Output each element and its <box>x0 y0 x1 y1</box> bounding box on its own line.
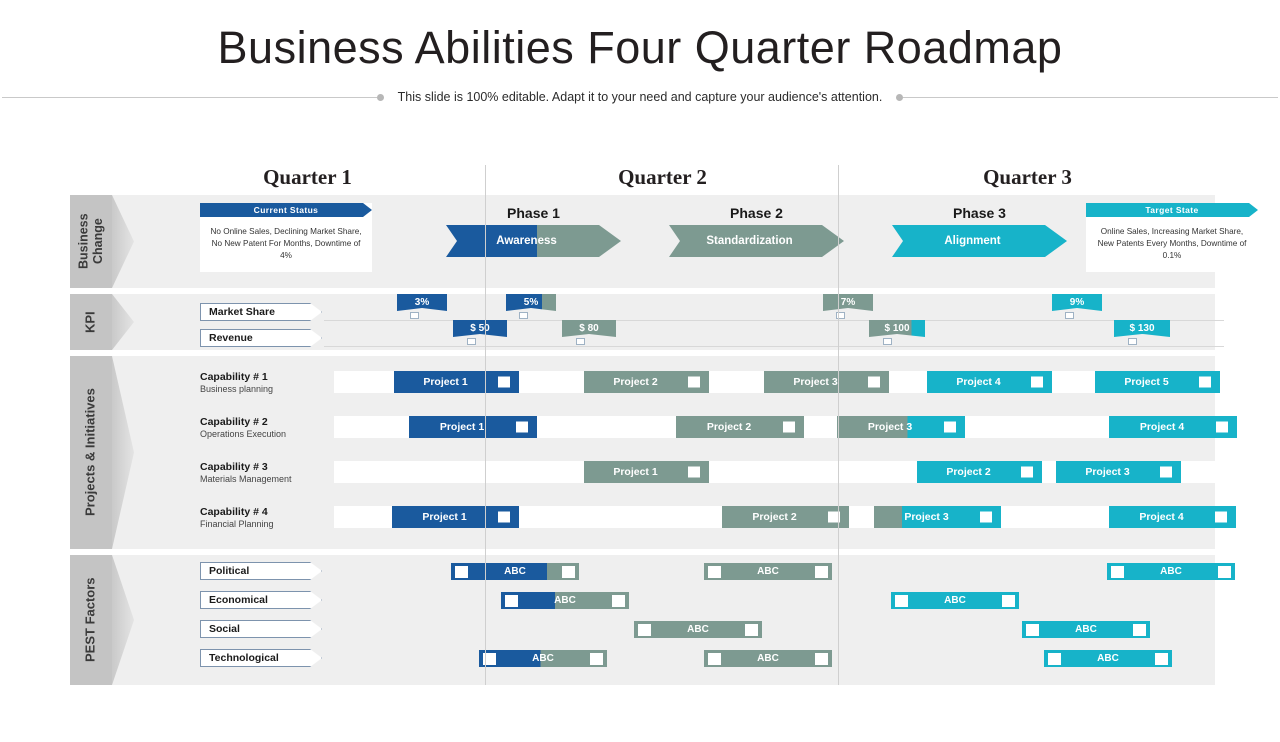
project-bar-4-3[interactable]: Project 3 <box>874 506 1001 528</box>
capability-subtitle-1: Business planning <box>200 384 273 395</box>
phase-title-1: Phase 1 <box>446 205 621 221</box>
pest-bar-marker-right <box>815 566 828 578</box>
phase-arrow-label-2: Standardization <box>669 235 844 247</box>
state-body-target: Online Sales, Increasing Market Share, N… <box>1086 217 1258 272</box>
pest-bar-4-1[interactable]: ABC <box>479 650 607 667</box>
pest-bar-marker-right <box>1155 653 1168 665</box>
capability-title-4: Capability # 4 <box>200 506 274 519</box>
phase-arrow-label-3: Alignment <box>892 235 1067 247</box>
kpi-baseline-2 <box>324 346 1224 347</box>
phase-title-2: Phase 2 <box>669 205 844 221</box>
pest-tag-3[interactable]: Social <box>200 620 322 638</box>
pest-bar-4-2[interactable]: ABC <box>704 650 832 667</box>
project-bar-marker <box>1021 467 1033 478</box>
project-bar-2-4[interactable]: Project 4 <box>1109 416 1237 438</box>
kpi-tag-1[interactable]: Market Share <box>200 303 322 321</box>
band-pest: PEST Factors <box>70 555 130 685</box>
phase-title-3: Phase 3 <box>892 205 1067 221</box>
capability-title-2: Capability # 2 <box>200 416 286 429</box>
project-bar-4-4[interactable]: Project 4 <box>1109 506 1236 528</box>
quarter-divider-2 <box>838 165 839 685</box>
band-label-pest: PEST Factors <box>70 555 112 685</box>
pest-bar-marker-left <box>708 653 721 665</box>
pest-bar-marker-right <box>1218 566 1231 578</box>
project-bar-3-3[interactable]: Project 3 <box>1056 461 1181 483</box>
phase-arrow-1[interactable]: Awareness <box>446 225 621 257</box>
phase-arrow-holder-1: Awareness <box>446 225 621 257</box>
project-bar-marker <box>1216 422 1228 433</box>
kpi-badge-7[interactable]: $ 100 <box>869 320 925 337</box>
kpi-pin-8 <box>1128 338 1137 345</box>
project-bar-marker <box>868 377 880 388</box>
state-box-current: Current StatusNo Online Sales, Declining… <box>200 203 372 272</box>
state-header-target: Target State <box>1086 203 1258 217</box>
kpi-pin-6 <box>576 338 585 345</box>
bullet-dot-right <box>896 94 903 101</box>
pest-tag-label-2: Economical <box>201 594 268 606</box>
project-bar-2-2[interactable]: Project 2 <box>676 416 804 438</box>
project-bar-1-3[interactable]: Project 3 <box>764 371 889 393</box>
quarter-divider-1 <box>485 165 486 685</box>
pest-bar-3-2[interactable]: ABC <box>1022 621 1150 638</box>
pest-bar-label-4-2: ABC <box>757 653 779 664</box>
kpi-badge-5[interactable]: $ 50 <box>453 320 507 337</box>
capability-label-2: Capability # 2Operations Execution <box>200 416 286 440</box>
pest-bar-marker-right <box>1002 595 1015 607</box>
project-bar-marker <box>1199 377 1211 388</box>
pest-tag-label-1: Political <box>201 565 249 577</box>
project-bar-2-3[interactable]: Project 3 <box>837 416 965 438</box>
kpi-pin-1 <box>410 312 419 319</box>
pest-tag-1[interactable]: Political <box>200 562 322 580</box>
pest-bar-marker-right <box>612 595 625 607</box>
pest-bar-3-1[interactable]: ABC <box>634 621 762 638</box>
pest-bar-marker-left <box>1026 624 1039 636</box>
project-bar-4-1[interactable]: Project 1 <box>392 506 519 528</box>
pest-tag-4[interactable]: Technological <box>200 649 322 667</box>
pest-bar-2-1[interactable]: ABC <box>501 592 629 609</box>
pest-bar-label-2-1: ABC <box>554 595 576 606</box>
pest-bar-marker-left <box>505 595 518 607</box>
pest-bar-label-1-1: ABC <box>504 566 526 577</box>
divider-left <box>2 97 377 98</box>
kpi-content: Market ShareRevenue3%5%7%9%$ 50$ 80$ 100… <box>134 294 1215 350</box>
kpi-badge-8[interactable]: $ 130 <box>1114 320 1170 337</box>
phase-2: Phase 2Standardization <box>669 205 844 257</box>
band-arrow-point <box>112 195 134 288</box>
pest-bar-marker-left <box>1111 566 1124 578</box>
capability-subtitle-4: Financial Planning <box>200 519 274 530</box>
project-bar-marker <box>1215 512 1227 523</box>
project-bar-marker <box>944 422 956 433</box>
pest-bar-label-1-3: ABC <box>1160 566 1182 577</box>
pest-bar-marker-left <box>1048 653 1061 665</box>
phase-arrow-2[interactable]: Standardization <box>669 225 844 257</box>
kpi-tag-label-2: Revenue <box>201 332 253 344</box>
roadmap-board: Business Change Current StatusNo Online … <box>70 195 1215 685</box>
pest-bar-label-1-2: ABC <box>757 566 779 577</box>
quarter-header-3: Quarter 3 <box>840 165 1215 190</box>
section-kpi: KPI Market ShareRevenue3%5%7%9%$ 50$ 80$… <box>70 294 1215 350</box>
project-bar-4-2[interactable]: Project 2 <box>722 506 849 528</box>
page-subtitle: This slide is 100% editable. Adapt it to… <box>384 90 897 104</box>
pest-tag-2[interactable]: Economical <box>200 591 322 609</box>
kpi-badge-3[interactable]: 7% <box>823 294 873 311</box>
project-bar-marker <box>783 422 795 433</box>
pest-tag-label-4: Technological <box>201 652 279 664</box>
pest-bar-marker-left <box>708 566 721 578</box>
capability-subtitle-3: Materials Management <box>200 474 292 485</box>
divider-right <box>903 97 1278 98</box>
pest-bar-marker-right <box>562 566 575 578</box>
section-projects-initiatives: Projects & Initiatives Capability # 1Bus… <box>70 356 1215 549</box>
project-bar-1-5[interactable]: Project 5 <box>1095 371 1220 393</box>
project-bar-1-1[interactable]: Project 1 <box>394 371 519 393</box>
quarter-headers: Quarter 1Quarter 2Quarter 3 <box>130 165 1215 195</box>
phase-arrow-holder-3: Alignment <box>892 225 1067 257</box>
state-body-current: No Online Sales, Declining Market Share,… <box>200 217 372 272</box>
kpi-tag-2[interactable]: Revenue <box>200 329 322 347</box>
pest-bar-marker-right <box>745 624 758 636</box>
project-bar-marker <box>498 512 510 523</box>
kpi-pin-5 <box>467 338 476 345</box>
kpi-tag-label-1: Market Share <box>201 306 275 318</box>
band-label-business-change: Business Change <box>70 195 112 288</box>
page-title: Business Abilities Four Quarter Roadmap <box>0 22 1280 74</box>
capability-subtitle-2: Operations Execution <box>200 429 286 440</box>
pest-bar-marker-left <box>638 624 651 636</box>
band-arrow-point <box>112 555 134 685</box>
pest-bar-marker-right <box>1133 624 1146 636</box>
pest-bar-marker-left <box>455 566 468 578</box>
quarter-header-2: Quarter 2 <box>485 165 840 190</box>
band-business-change: Business Change <box>70 195 130 288</box>
capability-label-3: Capability # 3Materials Management <box>200 461 292 485</box>
band-label-projects: Projects & Initiatives <box>70 356 112 549</box>
section-business-change: Business Change Current StatusNo Online … <box>70 195 1215 288</box>
capability-title-1: Capability # 1 <box>200 371 273 384</box>
phase-arrow-label-1: Awareness <box>446 235 621 247</box>
pest-bar-marker-right <box>815 653 828 665</box>
quarter-header-1: Quarter 1 <box>130 165 485 190</box>
project-bar-3-2[interactable]: Project 2 <box>917 461 1042 483</box>
project-bar-2-1[interactable]: Project 1 <box>409 416 537 438</box>
kpi-pin-2 <box>519 312 528 319</box>
pest-bar-marker-left <box>895 595 908 607</box>
project-bar-marker <box>516 422 528 433</box>
state-box-target: Target StateOnline Sales, Increasing Mar… <box>1086 203 1258 272</box>
project-bar-1-2[interactable]: Project 2 <box>584 371 709 393</box>
band-arrow-point <box>112 356 134 549</box>
pest-content: PoliticalABCABCABCEconomicalABCABCSocial… <box>134 555 1215 685</box>
pest-bar-1-2[interactable]: ABC <box>704 563 832 580</box>
project-bar-marker <box>1160 467 1172 478</box>
pest-bar-label-4-1: ABC <box>532 653 554 664</box>
pest-bar-4-3[interactable]: ABC <box>1044 650 1172 667</box>
project-bar-3-1[interactable]: Project 1 <box>584 461 709 483</box>
project-bar-marker <box>688 467 700 478</box>
pest-bar-label-4-3: ABC <box>1097 653 1119 664</box>
project-bar-marker <box>980 512 992 523</box>
pest-bar-2-2[interactable]: ABC <box>891 592 1019 609</box>
capability-title-3: Capability # 3 <box>200 461 292 474</box>
projects-content: Capability # 1Business planningProject 1… <box>134 356 1215 549</box>
phase-3: Phase 3Alignment <box>892 205 1067 257</box>
project-bar-marker <box>1031 377 1043 388</box>
kpi-badge-4[interactable]: 9% <box>1052 294 1102 311</box>
project-bar-marker <box>688 377 700 388</box>
band-label-kpi: KPI <box>70 294 112 350</box>
pest-bar-label-3-1: ABC <box>687 624 709 635</box>
phase-arrow-holder-2: Standardization <box>669 225 844 257</box>
pest-bar-marker-right <box>590 653 603 665</box>
project-bar-1-4[interactable]: Project 4 <box>927 371 1052 393</box>
kpi-badge-6[interactable]: $ 80 <box>562 320 616 337</box>
section-pest-factors: PEST Factors PoliticalABCABCABCEconomica… <box>70 555 1215 685</box>
pest-bar-label-3-2: ABC <box>1075 624 1097 635</box>
state-header-current: Current Status <box>200 203 372 217</box>
project-bar-marker <box>498 377 510 388</box>
pest-tag-label-3: Social <box>201 623 240 635</box>
kpi-pin-7 <box>883 338 892 345</box>
capability-label-4: Capability # 4Financial Planning <box>200 506 274 530</box>
phase-arrow-3[interactable]: Alignment <box>892 225 1067 257</box>
capability-label-1: Capability # 1Business planning <box>200 371 273 395</box>
kpi-pin-4 <box>1065 312 1074 319</box>
subtitle-row: This slide is 100% editable. Adapt it to… <box>0 90 1280 104</box>
band-arrow-point <box>112 294 134 350</box>
kpi-badge-2[interactable]: 5% <box>506 294 556 311</box>
band-kpi: KPI <box>70 294 130 350</box>
pest-bar-1-3[interactable]: ABC <box>1107 563 1235 580</box>
phase-1: Phase 1Awareness <box>446 205 621 257</box>
business-change-content: Current StatusNo Online Sales, Declining… <box>134 195 1215 288</box>
pest-bar-label-2-2: ABC <box>944 595 966 606</box>
pest-bar-1-1[interactable]: ABC <box>451 563 579 580</box>
band-projects: Projects & Initiatives <box>70 356 130 549</box>
bullet-dot-left <box>377 94 384 101</box>
kpi-badge-1[interactable]: 3% <box>397 294 447 311</box>
